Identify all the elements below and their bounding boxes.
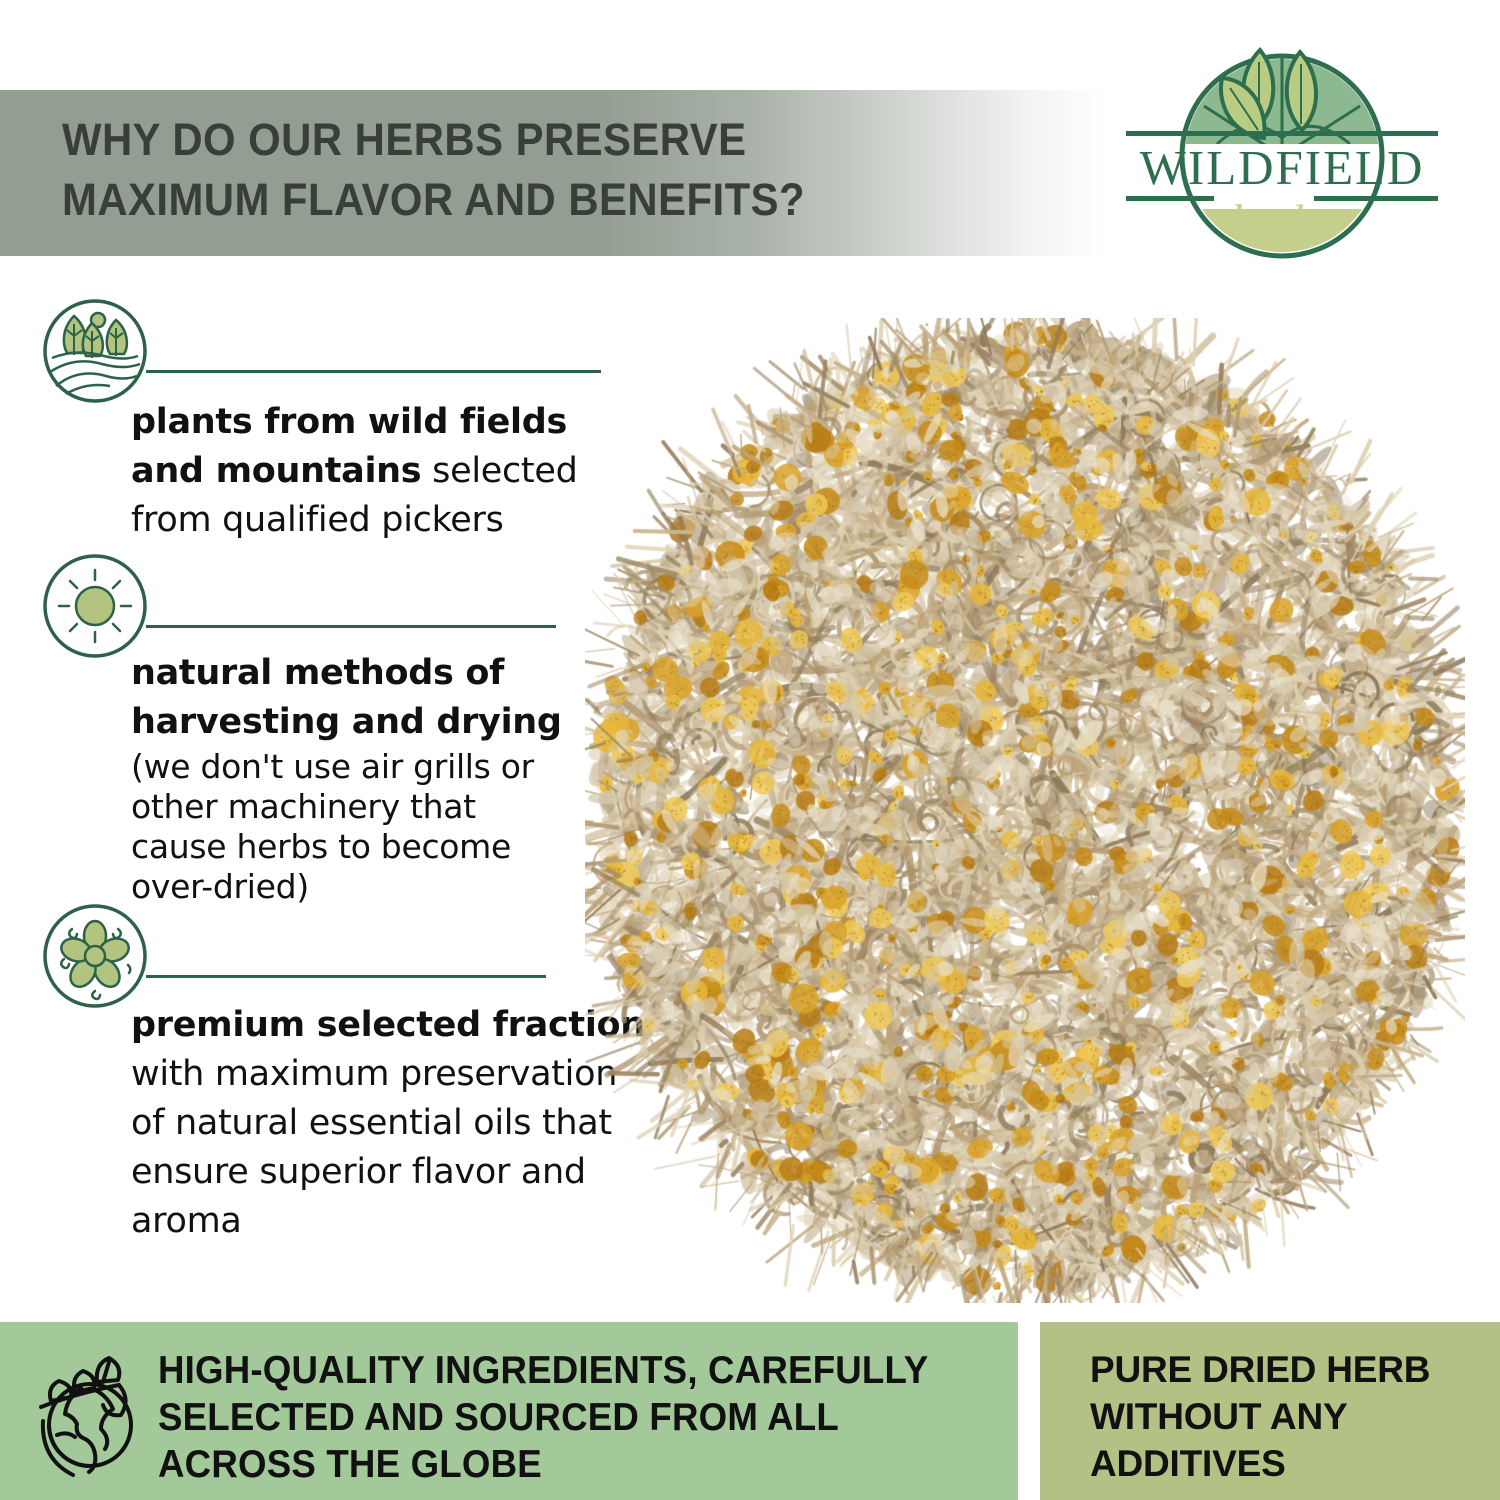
feature-connector-line bbox=[146, 975, 546, 978]
logo-brand-sub: herbs bbox=[1231, 195, 1333, 246]
feature-text-bold: natural methods of harvesting and drying bbox=[131, 653, 562, 742]
bottom-banner-quality: HIGH-QUALITY INGREDIENTS, CAREFULLY SELE… bbox=[0, 1322, 1018, 1500]
feature-text: plants from wild fields and mountains se… bbox=[131, 398, 631, 545]
feature-text-regular: with maximum preservation of natural ess… bbox=[131, 1054, 617, 1241]
bottom-banner-left-text: HIGH-QUALITY INGREDIENTS, CAREFULLY SELE… bbox=[158, 1347, 938, 1488]
feature-text: natural methods of harvesting and drying… bbox=[131, 649, 581, 907]
feature-text-bold: premium selected fraction bbox=[131, 1005, 645, 1045]
infographic-page: WHY DO OUR HERBS PRESERVE MAXIMUM FLAVOR… bbox=[0, 0, 1500, 1500]
globe-leaf-icon bbox=[33, 1349, 141, 1477]
field-trees-icon bbox=[42, 298, 149, 405]
bottom-banner-right-text: PURE DRIED HERB WITHOUT ANY ADDITIVES bbox=[1090, 1346, 1490, 1487]
logo-svg: WILDFIELD herbs bbox=[1112, 34, 1452, 279]
herb-pile-canvas bbox=[585, 318, 1465, 1303]
logo-brand-name: WILDFIELD bbox=[1140, 140, 1425, 195]
dried-herb-pile-image bbox=[585, 318, 1465, 1303]
logo-rule-top bbox=[1126, 131, 1438, 136]
feature-text-regular: (we don't use air grills or other machin… bbox=[131, 747, 581, 907]
feature-connector-line bbox=[146, 370, 601, 373]
header-banner: WHY DO OUR HERBS PRESERVE MAXIMUM FLAVOR… bbox=[0, 90, 1105, 256]
feature-connector-line bbox=[146, 625, 556, 628]
feature-text: premium selected fraction with maximum p… bbox=[131, 1001, 651, 1246]
flower-drops-icon bbox=[42, 903, 149, 1010]
bottom-banner-pure: PURE DRIED HERB WITHOUT ANY ADDITIVES bbox=[1040, 1322, 1500, 1500]
page-title: WHY DO OUR HERBS PRESERVE MAXIMUM FLAVOR… bbox=[62, 110, 992, 230]
logo-rule-left bbox=[1126, 196, 1214, 201]
sun-icon bbox=[42, 553, 149, 660]
brand-logo: WILDFIELD herbs bbox=[1112, 34, 1452, 279]
